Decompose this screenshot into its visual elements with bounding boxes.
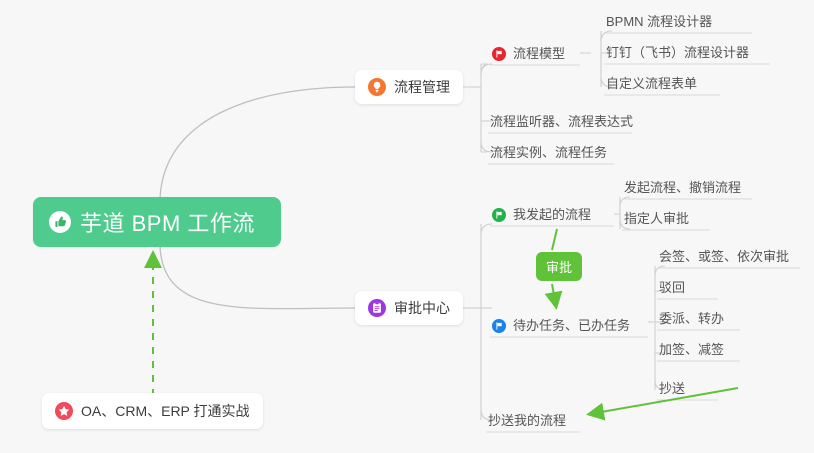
branch-node-process-management[interactable]: 流程管理: [355, 70, 463, 104]
node-label: 抄送我的流程: [488, 413, 566, 428]
arrow-started-to-approval: [552, 229, 557, 250]
node-reject[interactable]: 驳回: [657, 276, 689, 300]
node-bpmn-designer[interactable]: BPMN 流程设计器: [604, 10, 716, 34]
lightbulb-icon: [368, 78, 386, 96]
node-label: 委派、转办: [659, 311, 724, 326]
node-label: 指定人审批: [624, 211, 689, 226]
clipboard-icon: [368, 299, 386, 317]
node-label: 流程监听器、流程表达式: [490, 114, 633, 129]
node-process-listener[interactable]: 流程监听器、流程表达式: [488, 110, 637, 134]
connector-root-to-process-management: [160, 87, 355, 199]
node-label: 驳回: [659, 280, 685, 295]
annotation-tag-approval[interactable]: 审批: [536, 252, 582, 281]
branch-label: 审批中心: [394, 298, 450, 318]
thumbs-up-icon: [49, 211, 71, 233]
root-node-label: 芋道 BPM 工作流: [80, 206, 255, 238]
node-label: 流程实例、流程任务: [490, 145, 607, 160]
node-label: BPMN 流程设计器: [606, 14, 712, 29]
footnote-node[interactable]: OA、CRM、ERP 打通实战: [42, 393, 263, 429]
node-dingtalk-designer[interactable]: 钉钉（飞书）流程设计器: [604, 41, 753, 65]
node-process-model[interactable]: 流程模型: [490, 42, 569, 66]
connector-process-management-spine: [460, 64, 488, 152]
node-add-remove-sign[interactable]: 加签、减签: [657, 338, 728, 362]
star-icon: [55, 402, 73, 420]
node-cc-my-process[interactable]: 抄送我的流程: [486, 409, 570, 433]
node-cc[interactable]: 抄送: [657, 377, 689, 401]
root-node[interactable]: 芋道 BPM 工作流: [33, 197, 281, 247]
node-start-cancel-process[interactable]: 发起流程、撤销流程: [622, 176, 745, 200]
arrow-approval-to-todo: [552, 284, 556, 306]
node-custom-form[interactable]: 自定义流程表单: [604, 72, 701, 96]
node-label: 我发起的流程: [513, 203, 591, 227]
flag-icon: [492, 208, 506, 222]
flag-icon: [492, 47, 506, 61]
node-label: 会签、或签、依次审批: [659, 249, 789, 264]
flag-icon: [492, 319, 506, 333]
footnote-label: OA、CRM、ERP 打通实战: [81, 401, 250, 421]
node-countersign[interactable]: 会签、或签、依次审批: [657, 245, 793, 269]
node-label: 流程模型: [513, 42, 565, 66]
node-todo-done-tasks[interactable]: 待办任务、已办任务: [490, 314, 634, 338]
mindmap-canvas: 芋道 BPM 工作流 流程管理 流程模型 BPMN 流程设计器 钉钉（飞书）流程…: [0, 0, 814, 453]
node-label: 自定义流程表单: [606, 76, 697, 91]
node-label: 钉钉（飞书）流程设计器: [606, 45, 749, 60]
connector-root-to-approval-center: [160, 246, 355, 309]
branch-label: 流程管理: [394, 77, 450, 97]
node-designated-approval[interactable]: 指定人审批: [622, 207, 693, 231]
node-delegate-transfer[interactable]: 委派、转办: [657, 307, 728, 331]
node-label: 抄送: [659, 381, 685, 396]
annotation-label: 审批: [546, 260, 572, 275]
node-label: 待办任务、已办任务: [513, 314, 630, 338]
node-label: 发起流程、撤销流程: [624, 180, 741, 195]
node-label: 加签、减签: [659, 342, 724, 357]
node-my-started-process[interactable]: 我发起的流程: [490, 203, 595, 227]
node-process-instance[interactable]: 流程实例、流程任务: [488, 141, 611, 165]
branch-node-approval-center[interactable]: 审批中心: [355, 291, 463, 325]
